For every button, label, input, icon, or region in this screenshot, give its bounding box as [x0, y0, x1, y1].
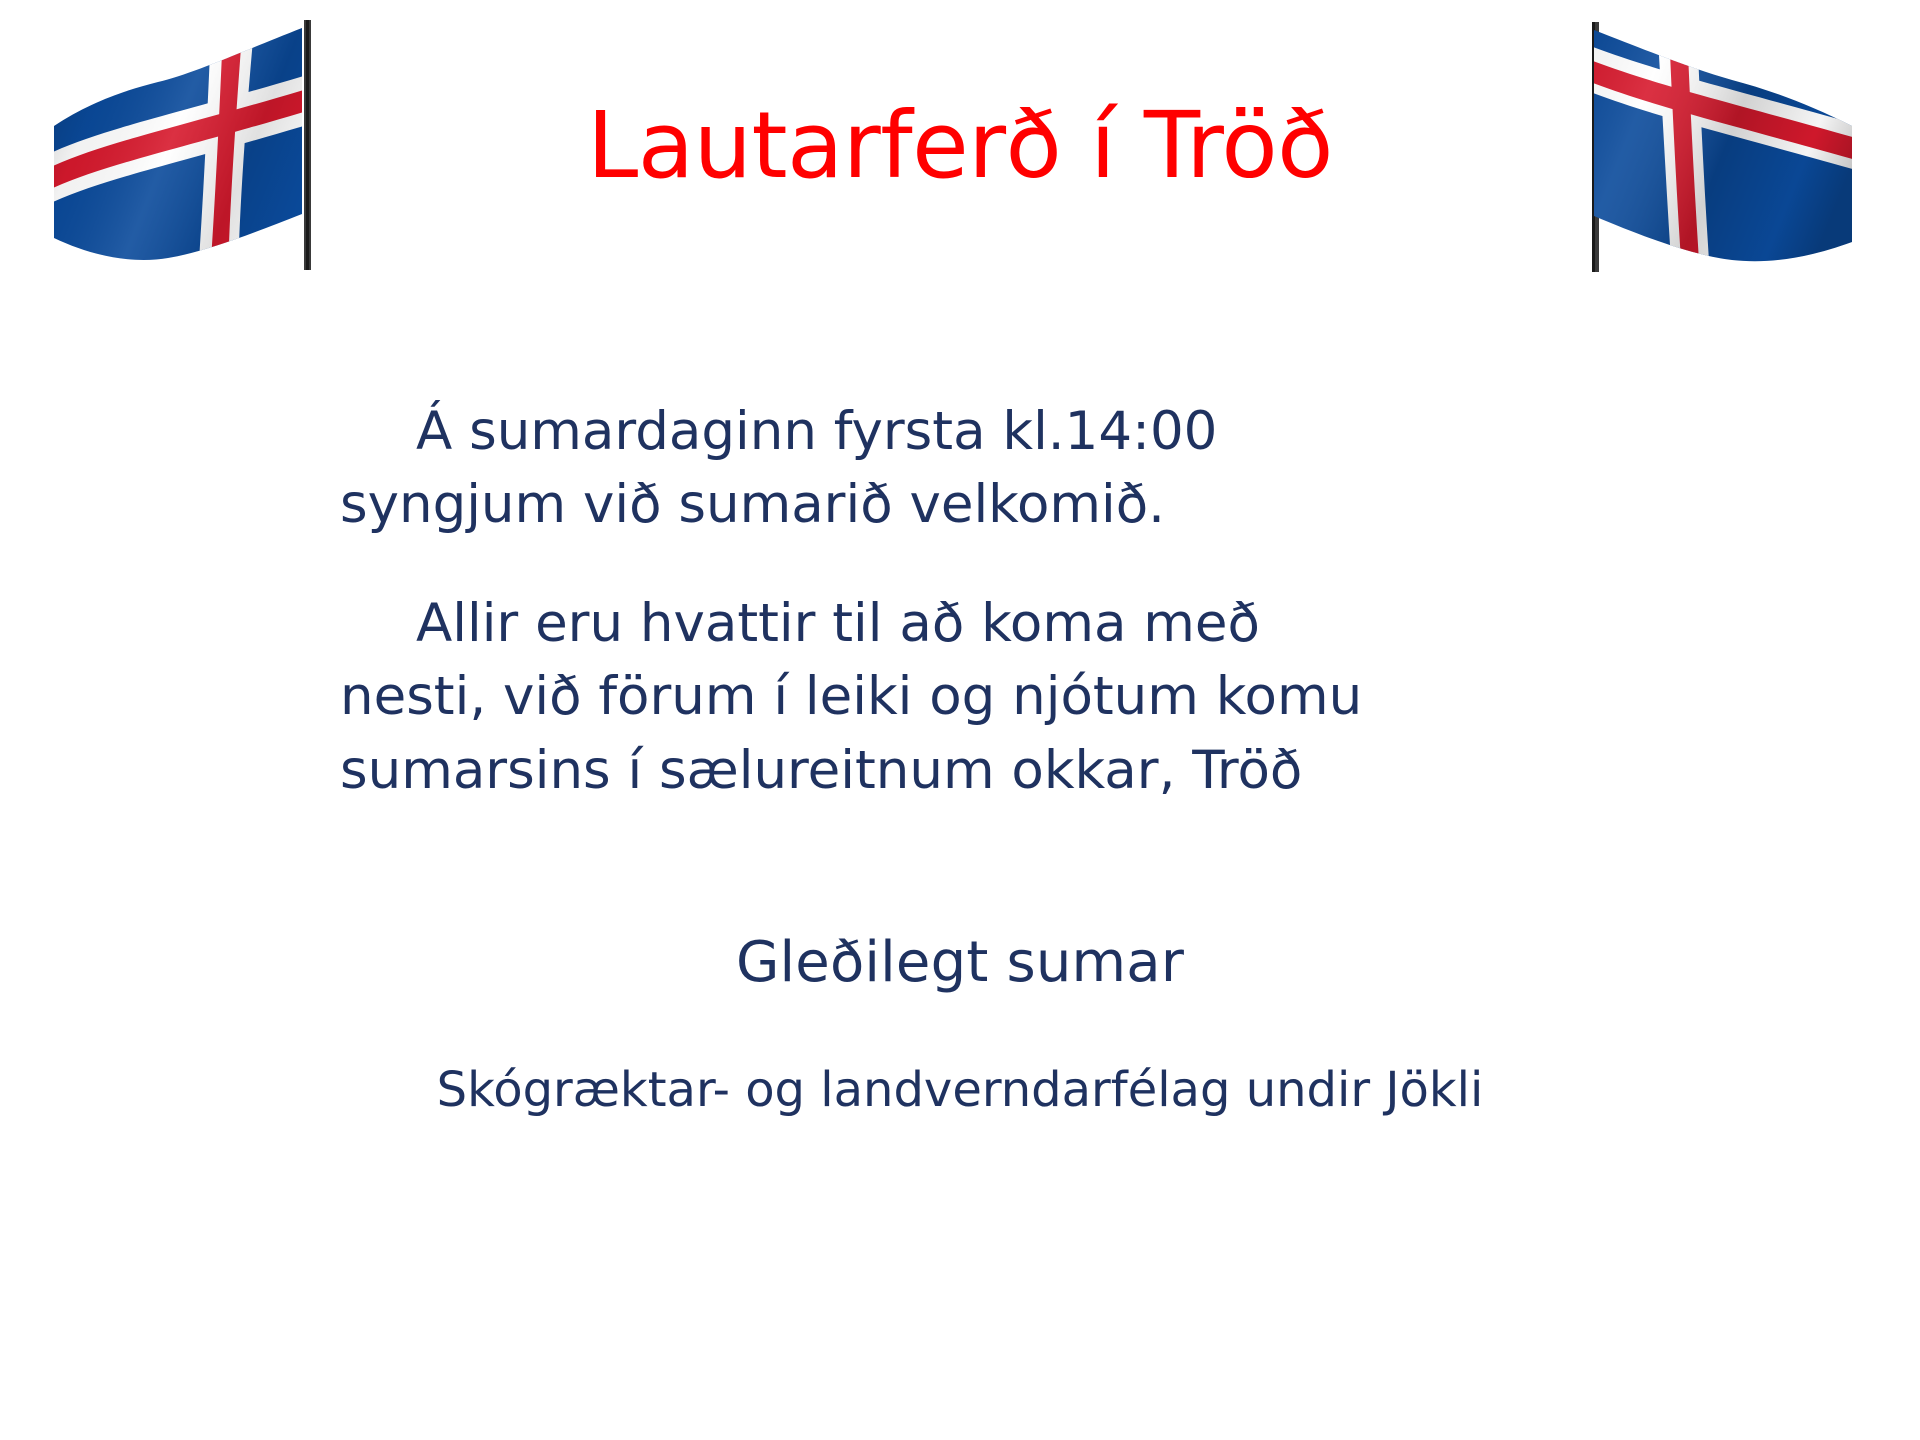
paragraph-2: Allir eru hvattir til að koma með nesti,…: [340, 587, 1590, 806]
poster-title: Lautarferð í Tröð: [0, 100, 1920, 192]
paragraph-2-line-1: Allir eru hvattir til að koma með: [416, 593, 1260, 654]
paragraph-1-line-1: Á sumardaginn fyrsta kl.14:00: [416, 401, 1217, 462]
greeting-text: Gleðilegt sumar: [0, 930, 1920, 995]
paragraph-1-line-2: syngjum við sumarið velkomið.: [340, 474, 1165, 535]
poster-slide: Lautarferð í Tröð Á sumardaginn fyrsta k…: [0, 0, 1920, 1440]
paragraph-2-line-2: nesti, við förum í leiki og njótum komu: [340, 666, 1362, 727]
paragraph-spacer: [340, 545, 1590, 587]
paragraph-2-line-3: sumarsins í sælureitnum okkar, Tröð: [340, 740, 1302, 801]
signature-text: Skógræktar- og landverndarfélag undir Jö…: [0, 1062, 1920, 1118]
paragraph-1: Á sumardaginn fyrsta kl.14:00 syngjum vi…: [340, 395, 1590, 541]
poster-body: Á sumardaginn fyrsta kl.14:00 syngjum vi…: [340, 395, 1590, 811]
